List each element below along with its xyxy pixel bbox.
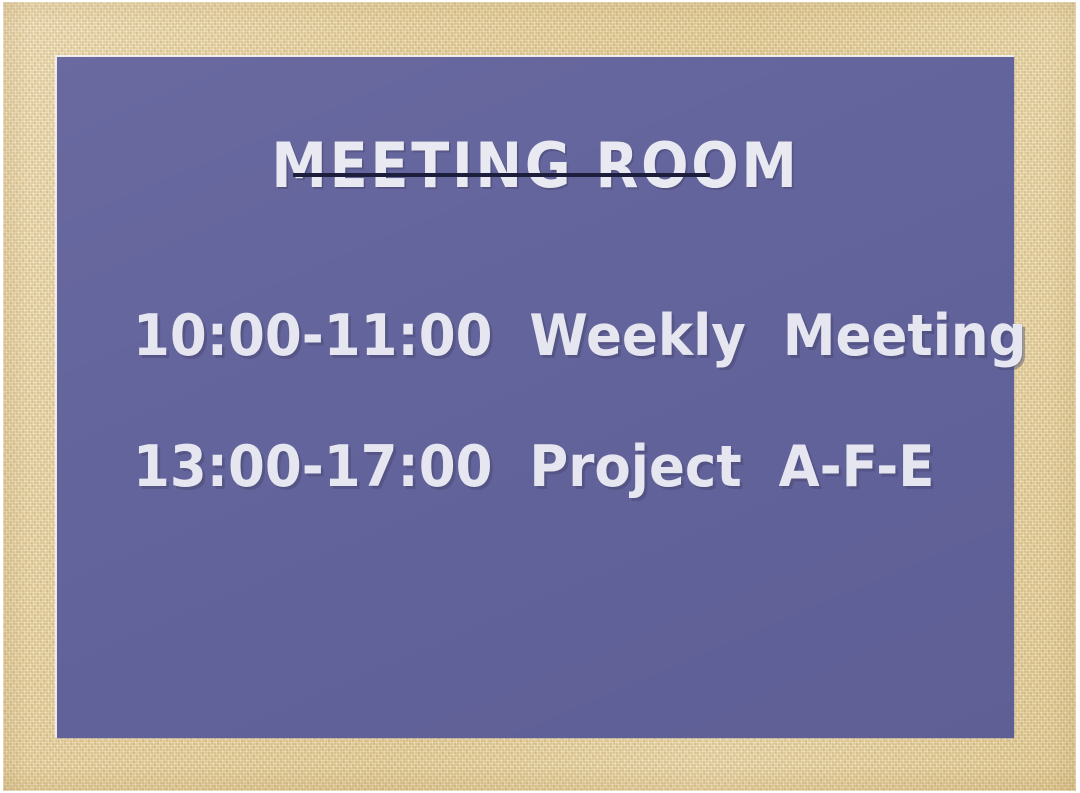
page-title: MEETING ROOM bbox=[105, 135, 966, 197]
sign-canvas: MEETING ROOM 10:00-11:00 Weekly Meeting … bbox=[0, 0, 1080, 793]
title-block: MEETING ROOM bbox=[57, 135, 1014, 197]
title-underline bbox=[293, 173, 710, 177]
schedule-entry-1: 10:00-11:00 Weekly Meeting bbox=[133, 308, 933, 365]
schedule-list: 10:00-11:00 Weekly Meeting 13:00-17:00 P… bbox=[133, 308, 993, 496]
schedule-entry-2: 13:00-17:00 Project A-F-E bbox=[133, 439, 933, 496]
notice-board: MEETING ROOM 10:00-11:00 Weekly Meeting … bbox=[57, 57, 1014, 738]
